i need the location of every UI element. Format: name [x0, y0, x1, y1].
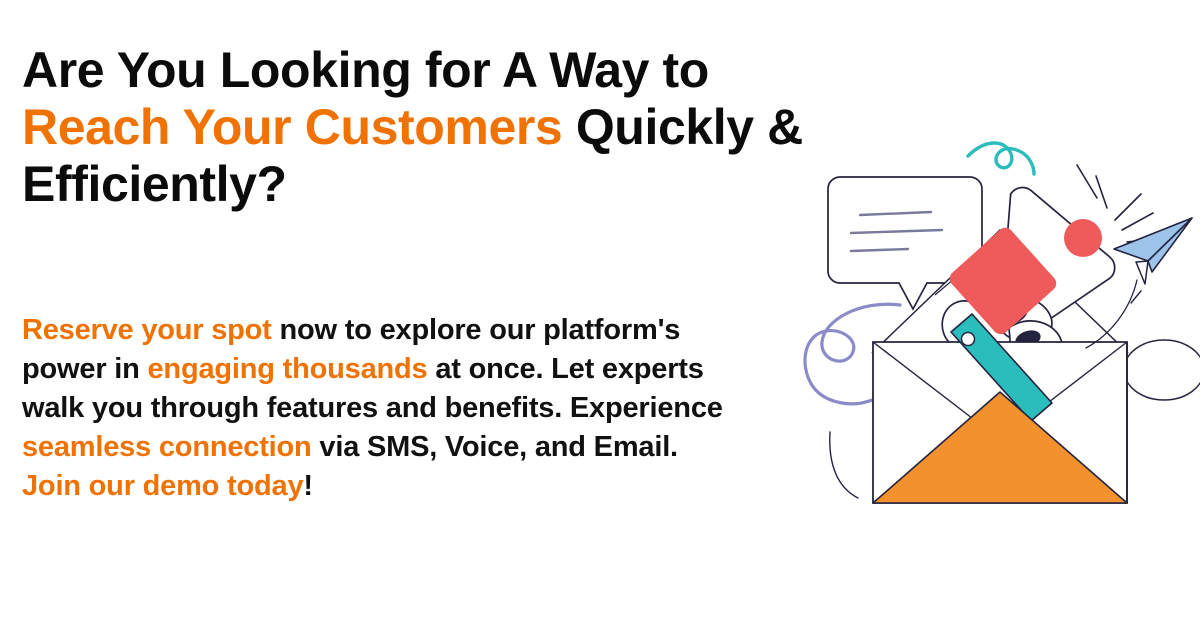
subcopy-segment-highlight-1: Reserve your spot: [22, 314, 272, 346]
page-title: Are You Looking for A Way to Reach Your …: [22, 42, 812, 213]
subcopy-segment-highlight-3: seamless connection: [22, 431, 312, 463]
headline-segment-plain-1: Are You Looking for A Way to: [22, 42, 709, 98]
megaphone-red-dot-icon: [1064, 219, 1102, 257]
promo-banner: Are You Looking for A Way to Reach Your …: [0, 0, 1200, 628]
teal-squiggle-icon: [968, 143, 1034, 174]
subcopy-segment-plain-4: !: [303, 470, 312, 502]
subcopy-segment-plain-3: via SMS, Voice, and Email.: [312, 431, 678, 463]
thin-arc-left-icon: [830, 432, 858, 498]
text-column: Are You Looking for A Way to Reach Your …: [22, 0, 812, 628]
subcopy-segment-highlight-4: Join our demo today: [22, 470, 303, 502]
circle-outline-right-icon: [1124, 340, 1200, 400]
envelope-megaphone-illustration: [800, 120, 1200, 520]
headline-segment-highlight-1: Reach Your Customers: [22, 99, 562, 155]
subcopy-paragraph: Reserve your spot now to explore our pla…: [22, 311, 742, 506]
subcopy-segment-highlight-2: engaging thousands: [148, 353, 428, 385]
